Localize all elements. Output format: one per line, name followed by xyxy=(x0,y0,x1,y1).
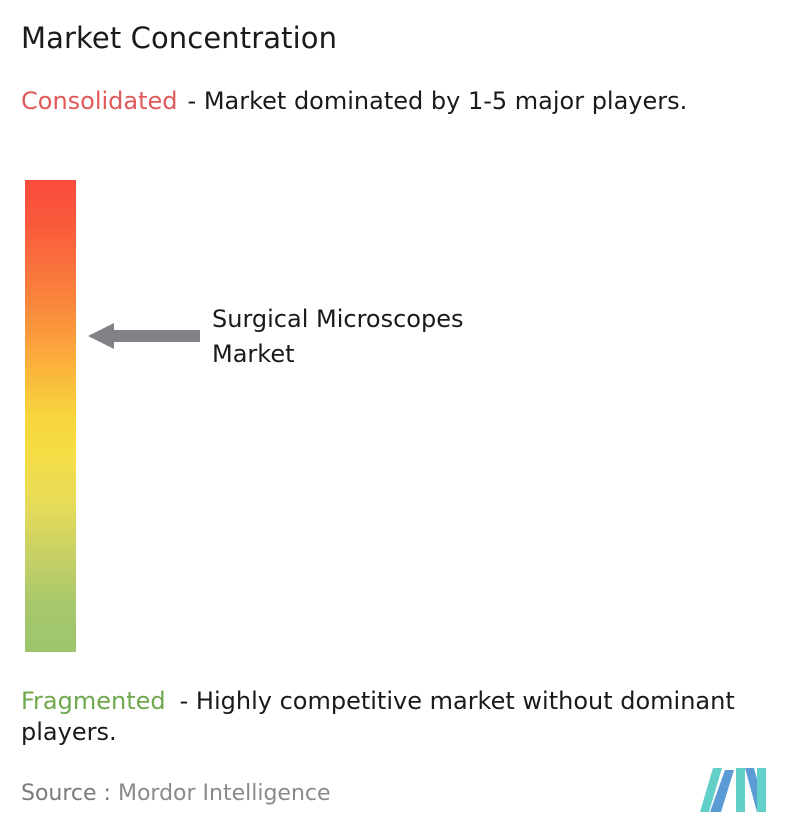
legend-consolidated-description: - Market dominated by 1-5 major players. xyxy=(188,87,688,115)
left-arrow-icon xyxy=(88,320,200,352)
mordor-intelligence-logo xyxy=(700,768,766,812)
market-pointer-label: Surgical Microscopes Market xyxy=(212,302,552,372)
legend-fragmented: Fragmented- Highly competitive market wi… xyxy=(21,686,787,748)
legend-consolidated: Consolidated- Market dominated by 1-5 ma… xyxy=(21,86,773,117)
concentration-scale-bar xyxy=(25,180,76,652)
source-label: Source : xyxy=(21,781,111,806)
concentration-gradient-icon xyxy=(25,180,76,652)
page-title: Market Concentration xyxy=(21,20,337,56)
source-note: Source : Mordor Intelligence xyxy=(21,779,331,808)
market-position-pointer: Surgical Microscopes Market xyxy=(88,302,558,372)
legend-consolidated-term: Consolidated xyxy=(21,87,178,115)
source-value: Mordor Intelligence xyxy=(118,781,331,806)
legend-fragmented-term: Fragmented xyxy=(21,687,166,715)
